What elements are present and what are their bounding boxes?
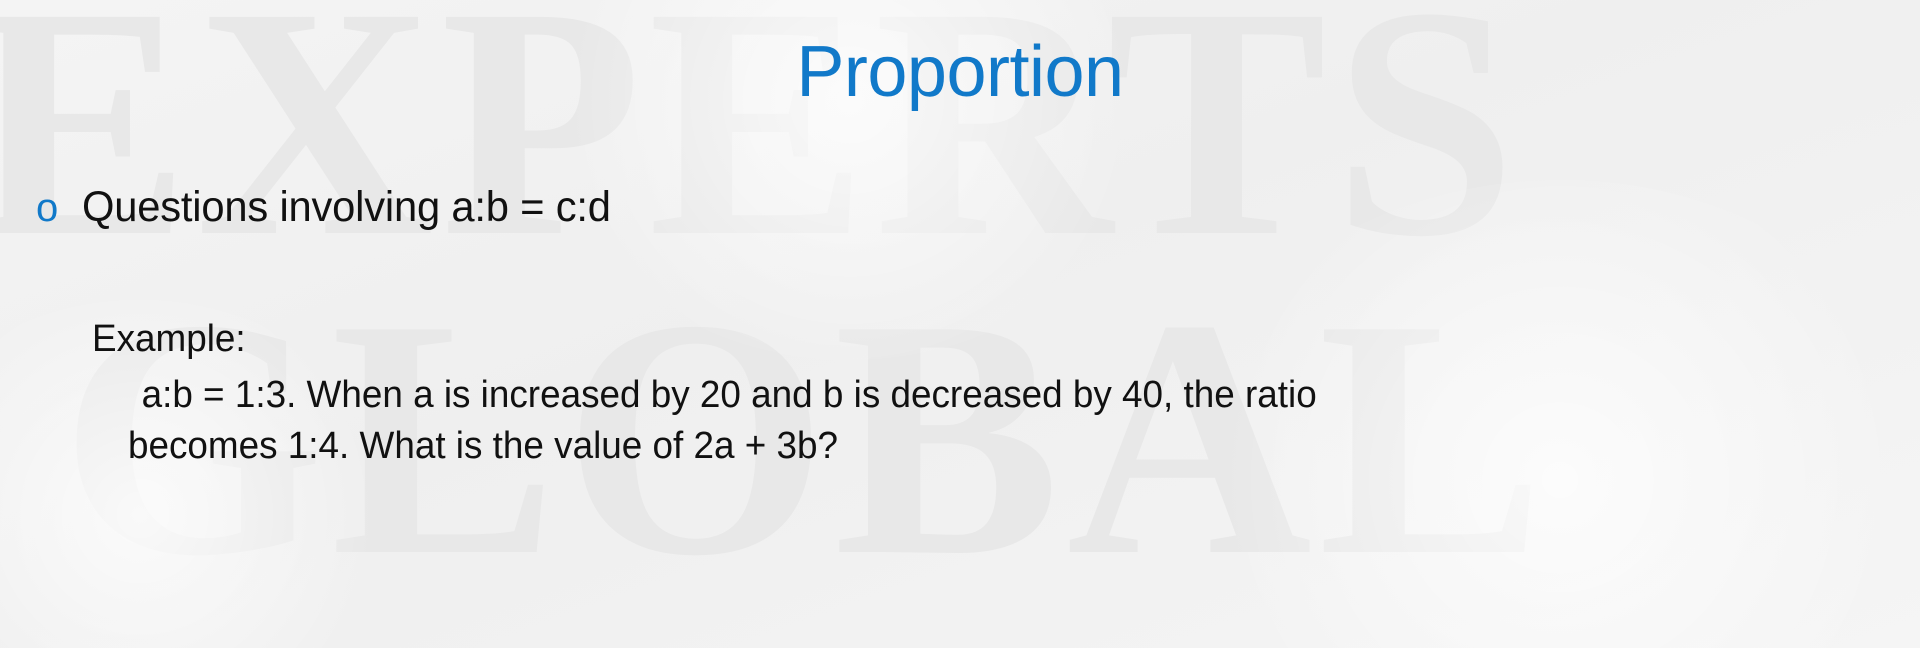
bullet-item-label: Questions involving a:b = c:d	[82, 183, 611, 231]
example-question-line-2: becomes 1:4. What is the value of 2a + 3…	[128, 421, 1564, 472]
slide-title: Proportion	[0, 36, 1920, 108]
bullet-circle-icon: o	[36, 188, 82, 228]
example-question-block: a:b = 1:3. When a is increased by 20 and…	[128, 370, 1564, 473]
example-question-line-1: a:b = 1:3. When a is increased by 20 and…	[128, 370, 1564, 421]
example-heading: Example:	[92, 318, 246, 362]
slide-content: Proportion o Questions involving a:b = c…	[0, 0, 1920, 648]
slide-canvas: EXPERTS GLOBAL Proportion o Questions in…	[0, 0, 1920, 648]
bullet-item-proportion-questions: o Questions involving a:b = c:d	[36, 183, 627, 231]
